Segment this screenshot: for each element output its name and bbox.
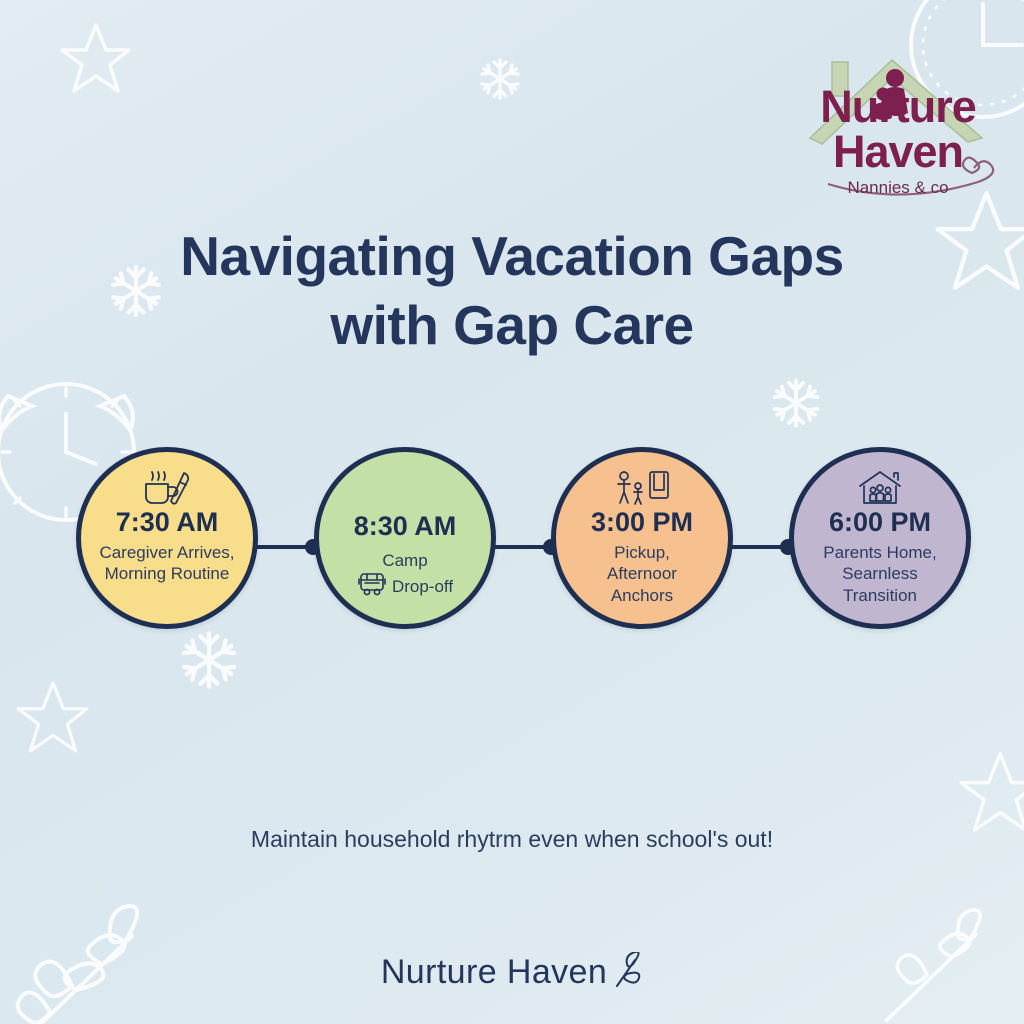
timeline-node-time: 8:30 AM [354,512,457,542]
timeline-node-label: Parents Home, Searnless Transition [823,542,936,607]
brand-logo: Nurture Haven Nannies & co [792,26,1004,208]
timeline-node-label-line3: Transition [823,585,936,607]
star-icon [58,20,132,98]
timeline-node-label: Caregiver Arrives, Morning Routine [99,542,234,586]
timeline-node-label-line1: Parents Home, [823,542,936,564]
timeline-node-label-line2: Drop-off [392,576,453,598]
tagline: Maintain household rhytrm even when scho… [0,826,1024,853]
timeline-node-label-line2: Afternoor [607,563,677,585]
timeline-node-camp[interactable]: 8:30 AM Camp Drop-off [314,447,496,629]
timeline-node-parents-home[interactable]: 6:00 PM Parents Home, Searnless Transiti… [789,447,971,629]
infographic-canvas: Nurture Haven Nannies & co Navigating Va… [0,0,1024,1024]
timeline-connector-1 [256,545,318,549]
page-title-line1: Navigating Vacation Gaps [0,222,1024,291]
footer-brand: Nurture Haven [0,952,1024,993]
timeline-node-time: 6:00 PM [829,508,931,538]
school-bus-icon [357,571,387,603]
timeline-node-label-line2: Searnless [823,563,936,585]
timeline-node-label-line3: Anchors [607,585,677,607]
coffee-cup-toothbrush-icon [140,470,194,506]
house-family-icon [856,470,904,506]
page-title: Navigating Vacation Gaps with Gap Care [0,222,1024,360]
leaf-icon [611,952,643,993]
page-title-line2: with Gap Care [0,291,1024,360]
logo-name-line2: Haven [792,129,1004,174]
star-icon [956,748,1024,838]
snowflake-icon [478,56,522,102]
adult-child-swing-icon [614,470,670,506]
logo-tagline: Nannies & co [792,178,1004,198]
logo-name-line1: Nurture [792,86,1004,129]
timeline-node-label: Pickup, Afternoor Anchors [607,542,677,607]
snowflake-icon [770,376,822,430]
timeline-node-label-line2: Morning Routine [99,563,234,585]
timeline-node-time: 7:30 AM [116,508,219,538]
timeline-node-label-line1: Caregiver Arrives, [99,542,234,564]
timeline-connector-3 [731,545,793,549]
timeline-node-pickup[interactable]: 3:00 PM Pickup, Afternoor Anchors [551,447,733,629]
timeline-connector-2 [494,545,556,549]
star-icon [14,678,90,758]
timeline-node-label-line1: Pickup, [607,542,677,564]
timeline-node-label: Camp Drop-off [357,550,453,604]
timeline: 7:30 AM Caregiver Arrives, Morning Routi… [0,447,1024,647]
timeline-node-label-line1: Camp [357,550,453,572]
timeline-node-time: 3:00 PM [591,508,693,538]
timeline-node-morning[interactable]: 7:30 AM Caregiver Arrives, Morning Routi… [76,447,258,629]
footer-brand-name: Nurture Haven [381,953,607,992]
